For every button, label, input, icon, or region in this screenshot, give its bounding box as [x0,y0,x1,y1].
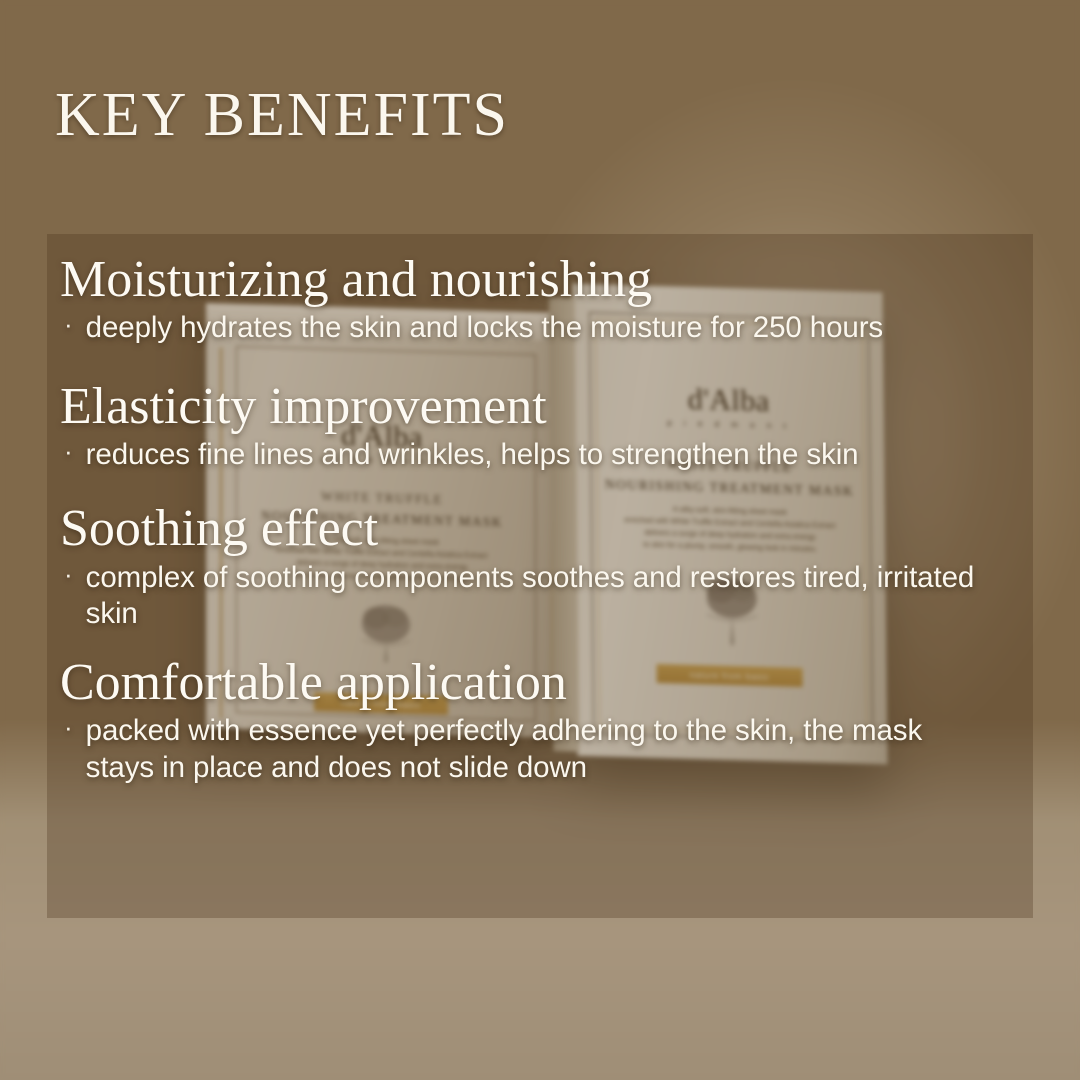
benefit-detail: reduces fine lines and wrinkles, helps t… [86,437,859,474]
bullet-icon: · [64,310,73,340]
benefit-heading: Comfortable application [60,655,1020,711]
bullet-icon: · [64,713,73,743]
benefit-detail-row: · complex of soothing components soothes… [60,560,1020,633]
page-title: KEY BENEFITS [55,80,509,151]
benefit-item-elasticity: Elasticity improvement · reduces fine li… [60,379,1020,474]
bullet-icon: · [64,437,73,467]
benefit-detail-row: · deeply hydrates the skin and locks the… [60,310,1020,347]
benefit-detail: complex of soothing components soothes a… [86,560,998,633]
benefit-item-comfortable: Comfortable application · packed with es… [60,655,1020,786]
benefit-detail: deeply hydrates the skin and locks the m… [86,310,883,347]
benefit-item-moisturizing: Moisturizing and nourishing · deeply hyd… [60,252,1020,347]
benefit-detail-row: · packed with essence yet perfectly adhe… [60,713,1020,786]
slide-canvas: d'Alba p i e d m o n t WHITE TRUFFLE NOU… [0,0,1080,1080]
benefit-item-soothing: Soothing effect · complex of soothing co… [60,501,1020,632]
benefit-detail-row: · reduces fine lines and wrinkles, helps… [60,437,1020,474]
benefit-detail: packed with essence yet perfectly adheri… [86,713,998,786]
benefit-heading: Moisturizing and nourishing [60,252,1020,308]
bullet-icon: · [64,560,73,590]
benefit-heading: Elasticity improvement [60,379,1020,435]
benefit-heading: Soothing effect [60,501,1020,557]
benefits-list: Moisturizing and nourishing · deeply hyd… [60,252,1020,790]
